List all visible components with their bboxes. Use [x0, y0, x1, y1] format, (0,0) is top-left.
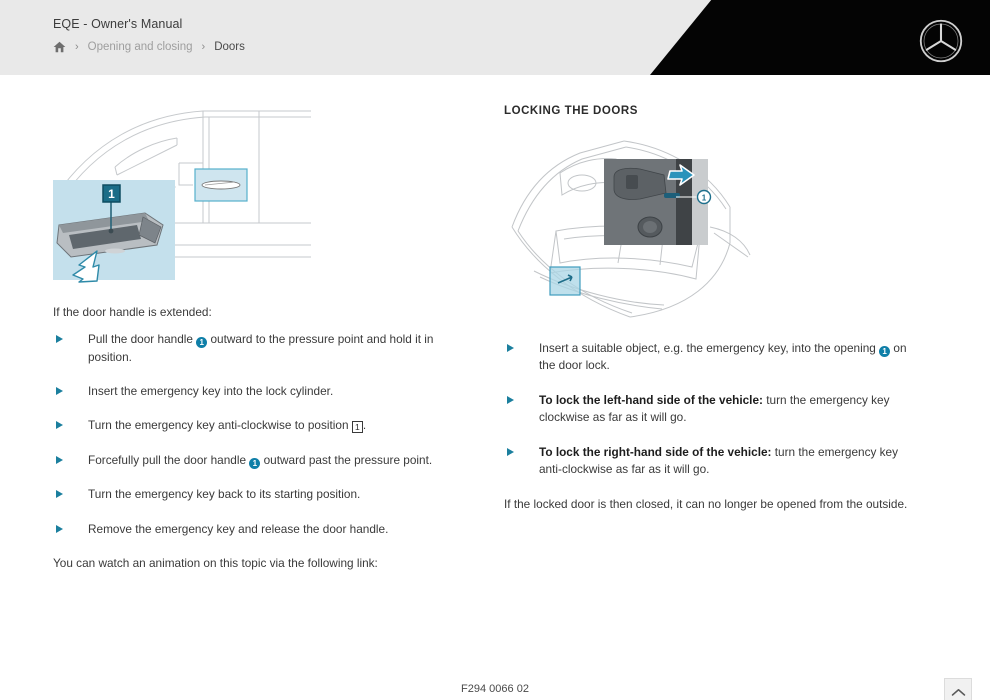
right-column: LOCKING THE DOORS: [504, 105, 924, 523]
list-item: Insert the emergency key into the lock c…: [53, 383, 453, 400]
step-text: Remove the emergency key and release the…: [88, 522, 388, 536]
step-text: Turn the emergency key back to its start…: [88, 487, 360, 501]
breadcrumb-item-opening-and-closing[interactable]: Opening and closing: [88, 41, 193, 53]
bullet-triangle-icon: [507, 344, 514, 352]
bullet-triangle-icon: [507, 448, 514, 456]
right-steps-list: Insert a suitable object, e.g. the emerg…: [504, 340, 924, 479]
list-item: Remove the emergency key and release the…: [53, 521, 453, 538]
svg-text:1: 1: [108, 187, 115, 201]
left-intro-text: If the door handle is extended:: [53, 304, 453, 321]
list-item: Insert a suitable object, e.g. the emerg…: [504, 340, 924, 375]
door-handle-illustration: 1: [53, 105, 313, 285]
boxed-number-1: 1: [352, 421, 363, 433]
left-steps-list: Pull the door handle 1 outward to the pr…: [53, 331, 453, 538]
door-handle-figure: 1: [53, 105, 453, 290]
door-lock-figure: 1: [504, 131, 924, 326]
bullet-triangle-icon: [56, 335, 63, 343]
document-title: EQE - Owner's Manual: [53, 17, 245, 31]
callout-number-1: 1: [196, 337, 207, 348]
lock-position-callout-box: [550, 267, 580, 295]
left-column: 1 If the door handle is extended: Pull t…: [53, 105, 453, 582]
breadcrumb-separator-1: ›: [75, 42, 79, 53]
breadcrumb-item-doors[interactable]: Doors: [214, 41, 245, 53]
svg-text:1: 1: [702, 194, 707, 203]
figure-caption: F294 0066 02: [0, 683, 990, 695]
bullet-triangle-icon: [56, 490, 63, 498]
home-icon[interactable]: [53, 41, 66, 53]
page-content: 1 If the door handle is extended: Pull t…: [0, 75, 990, 700]
page-title: LOCKING THE DOORS: [504, 105, 924, 117]
header-title-block: EQE - Owner's Manual › Opening and closi…: [53, 17, 245, 53]
breadcrumb: › Opening and closing › Doors: [53, 41, 245, 53]
list-item: Turn the emergency key back to its start…: [53, 486, 453, 503]
right-outro-text: If the locked door is then closed, it ca…: [504, 496, 924, 513]
list-item: To lock the right-hand side of the vehic…: [504, 444, 924, 479]
callout-number-1: 1: [249, 458, 260, 469]
step-text: Insert the emergency key into the lock c…: [88, 384, 333, 398]
bullet-triangle-icon: [56, 456, 63, 464]
step-lead-text: To lock the left-hand side of the vehicl…: [539, 393, 763, 407]
left-outro-text: You can watch an animation on this topic…: [53, 555, 453, 572]
app-header: EQE - Owner's Manual › Opening and closi…: [0, 0, 990, 75]
callout-number-1: 1: [879, 346, 890, 357]
chevron-up-icon: [951, 687, 966, 697]
list-item: To lock the left-hand side of the vehicl…: [504, 392, 924, 427]
list-item: Pull the door handle 1 outward to the pr…: [53, 331, 453, 366]
list-item: Turn the emergency key anti-clockwise to…: [53, 417, 453, 434]
door-lock-photo-inset: 1: [604, 159, 711, 245]
breadcrumb-separator-2: ›: [202, 42, 206, 53]
door-handle-inset: 1: [53, 180, 175, 282]
bullet-triangle-icon: [56, 525, 63, 533]
bullet-triangle-icon: [56, 387, 63, 395]
scroll-to-top-button[interactable]: [944, 678, 972, 700]
step-lead-text: To lock the right-hand side of the vehic…: [539, 445, 771, 459]
mercedes-star-logo: [918, 18, 964, 64]
handle-callout-box: [195, 169, 247, 201]
list-item: Forcefully pull the door handle 1 outwar…: [53, 452, 453, 469]
door-lock-illustration: 1: [504, 131, 924, 321]
bullet-triangle-icon: [507, 396, 514, 404]
bullet-triangle-icon: [56, 421, 63, 429]
